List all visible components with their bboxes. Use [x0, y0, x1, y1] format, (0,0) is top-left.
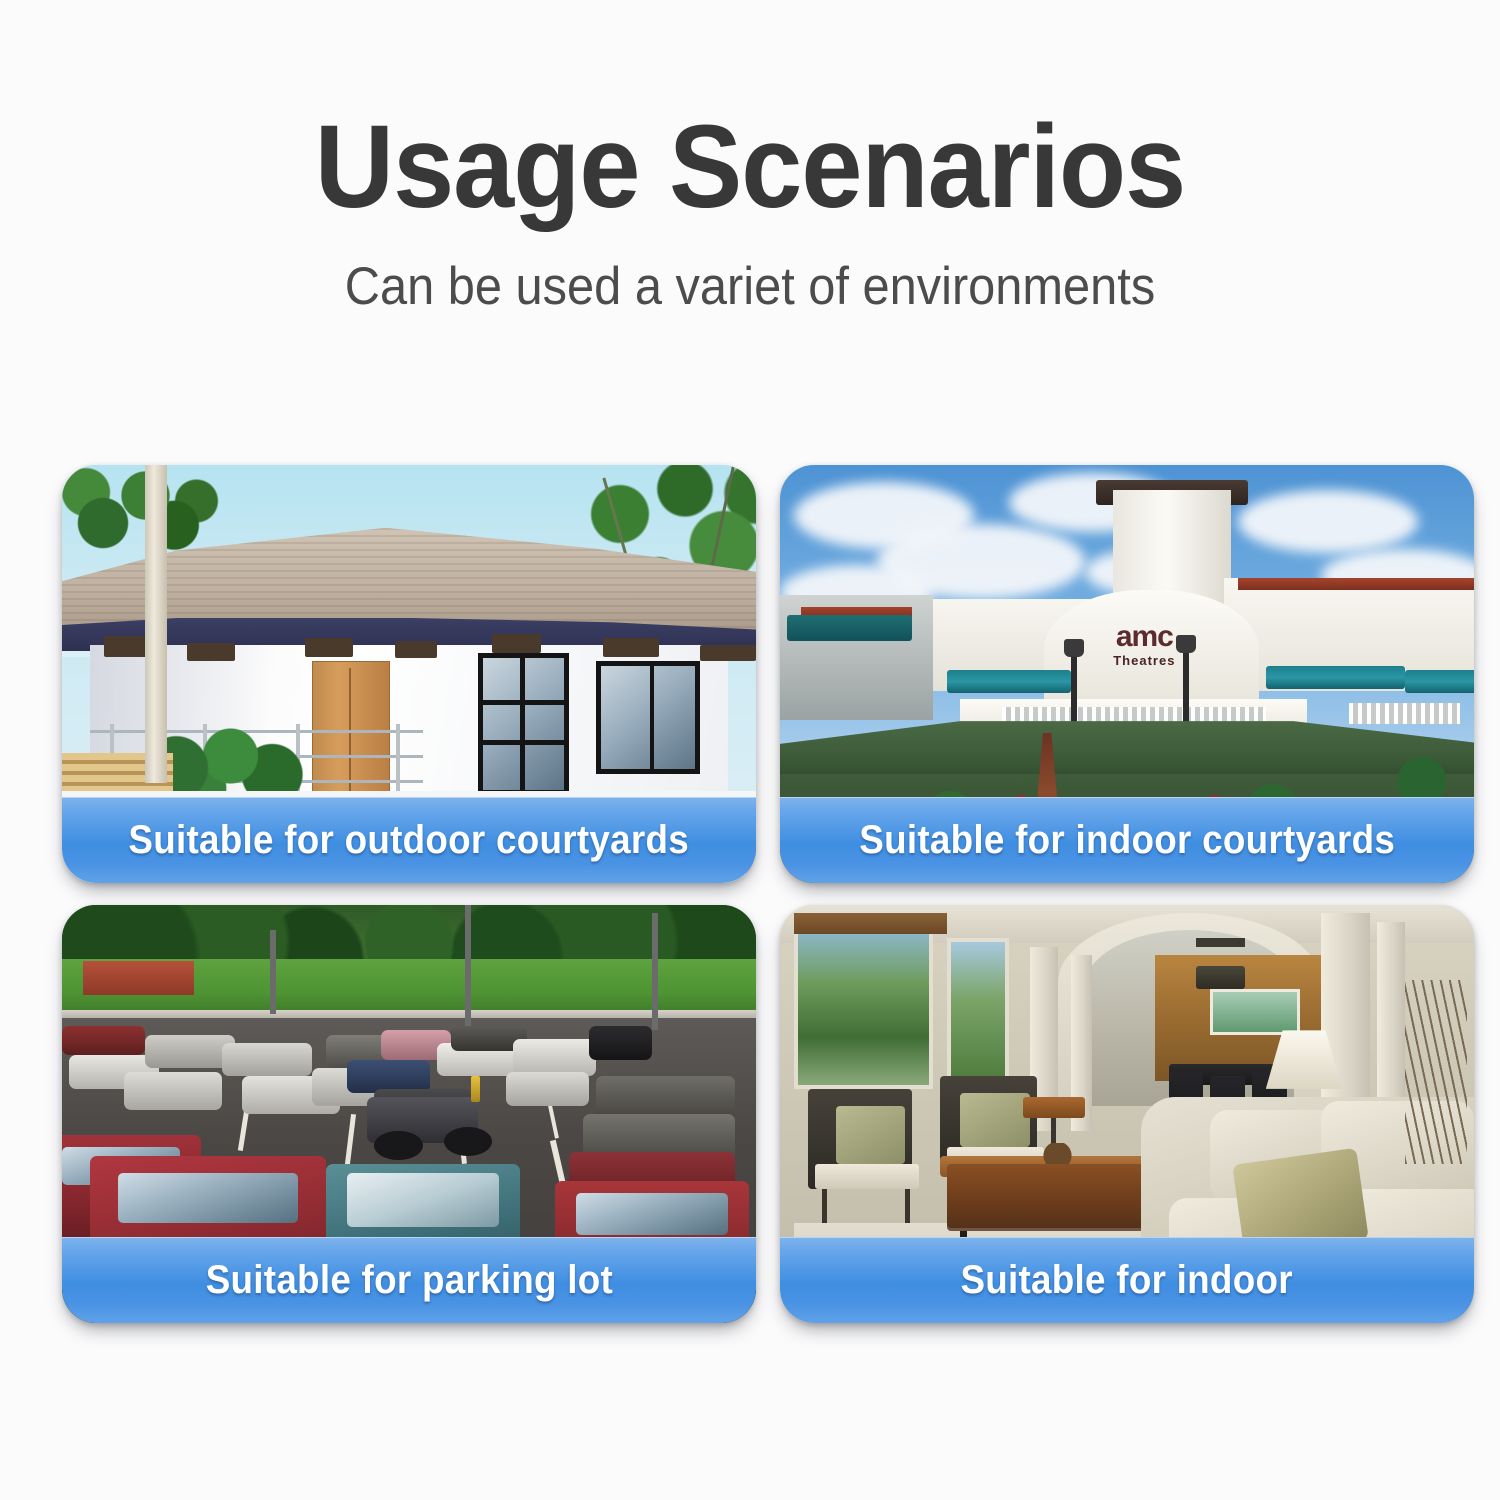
scenario-card-parking-lot[interactable]: Suitable for parking lot — [62, 905, 756, 1323]
scenario-card-indoor-courtyards[interactable]: amc Theatres — [780, 465, 1474, 883]
poster-page: Usage Scenarios Can be used a variet of … — [0, 0, 1500, 1500]
caption-label: Suitable for indoor — [961, 1258, 1293, 1303]
scenario-card-outdoor-courtyards[interactable]: Suitable for outdoor courtyards — [62, 465, 756, 883]
caption-label: Suitable for outdoor courtyards — [129, 818, 690, 863]
caption-bar: Suitable for indoor courtyards — [780, 797, 1474, 883]
caption-label: Suitable for indoor courtyards — [859, 818, 1395, 863]
page-title: Usage Scenarios — [53, 0, 1448, 226]
caption-bar: Suitable for indoor — [780, 1237, 1474, 1323]
page-subtitle: Can be used a variet of environments — [60, 226, 1440, 313]
caption-label: Suitable for parking lot — [205, 1258, 612, 1303]
poster-header: Usage Scenarios Can be used a variet of … — [0, 0, 1500, 313]
scenario-grid: Suitable for outdoor courtyards — [62, 465, 1438, 1323]
scenario-card-indoor[interactable]: Suitable for indoor — [780, 905, 1474, 1323]
caption-bar: Suitable for outdoor courtyards — [62, 797, 756, 883]
amc-brand-text: amc — [1116, 622, 1173, 652]
caption-bar: Suitable for parking lot — [62, 1237, 756, 1323]
amc-sub-text: Theatres — [1113, 654, 1175, 667]
